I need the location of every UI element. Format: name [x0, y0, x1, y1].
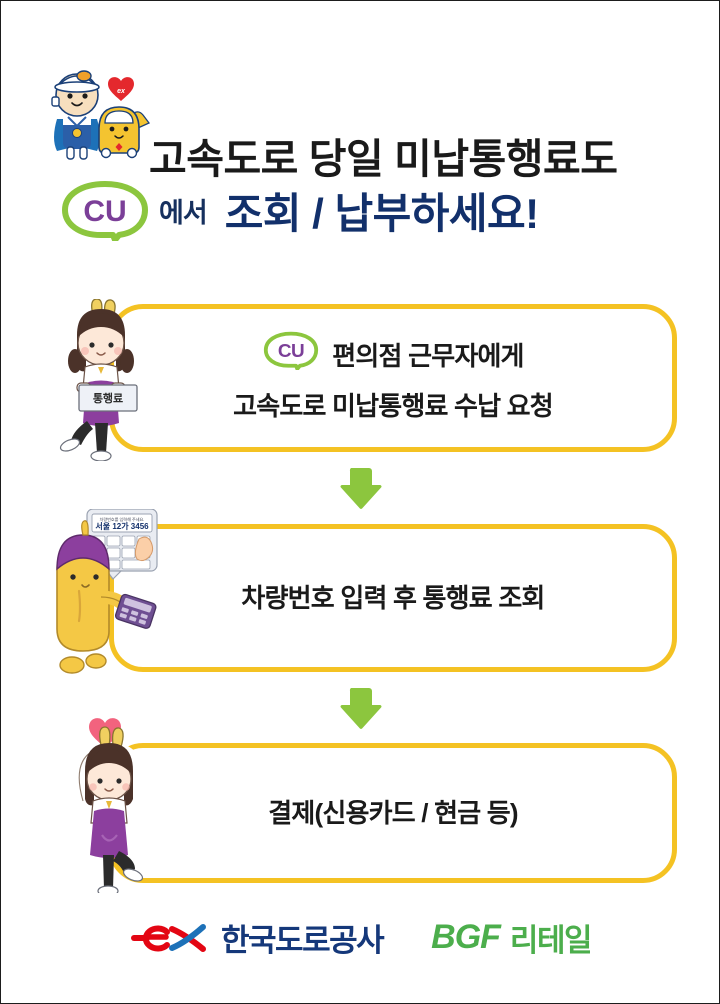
- bgf-retail-logo: BGF 리테일: [431, 915, 591, 960]
- svg-text:ex: ex: [117, 88, 126, 95]
- headline-line-2: CU 에서 조회 / 납부하세요!: [59, 175, 699, 245]
- cu-logo-text: CU: [83, 195, 126, 228]
- ex-logo-name: 한국도로공사: [221, 915, 383, 960]
- heart-badge-icon: ex: [108, 77, 134, 101]
- ex-korea-expressway-logo: 한국도로공사: [131, 915, 383, 960]
- footer-logos: 한국도로공사 BGF 리테일: [1, 906, 720, 968]
- step-2-line-1: 차량번호 입력 후 통행료 조회: [241, 578, 544, 618]
- step-3-character-illustration: [49, 701, 167, 898]
- step-1-box: CU 편의점 근무자에게 고속도로 미납통행료 수납 요청: [109, 304, 677, 452]
- toll-sign-text: 통행료: [93, 391, 123, 405]
- connector-label: 에서: [159, 191, 207, 230]
- step-2-box: 차량번호 입력 후 통행료 조회: [109, 524, 677, 672]
- bgf-mark-text: BGF: [431, 918, 500, 957]
- step-2-character-illustration: 차량번호를 입력해 주세요. 서울 12가 3456: [39, 509, 169, 686]
- step-3-box: 결제(신용카드 / 현금 등): [109, 743, 677, 883]
- step-1-text-1: 편의점 근무자에게: [332, 336, 523, 376]
- screen-plate-text: 서울 12가 3456: [95, 521, 149, 531]
- cu-logo-inline-step1: CU: [262, 330, 320, 381]
- arrow-down-icon-1: [334, 466, 386, 512]
- cu-logo-inline-text: CU: [278, 341, 304, 362]
- ex-mark-icon: [131, 919, 211, 955]
- arrow-down-icon-2: [334, 686, 386, 732]
- ex-mascot-pair-illustration: ex: [35, 57, 165, 167]
- car-mascot: [99, 107, 149, 158]
- cu-logo: CU: [59, 179, 151, 241]
- bgf-logo-name: 리테일: [510, 915, 591, 960]
- poster-root: ex: [0, 0, 720, 1004]
- road-guide-mascot: [52, 71, 100, 159]
- poster-header: ex: [1, 45, 720, 245]
- step-3-line-1: 결제(신용카드 / 현금 등): [268, 793, 518, 833]
- pos-terminal-icon: [115, 593, 157, 629]
- step-1-line-1: CU 편의점 근무자에게: [262, 330, 523, 381]
- step-1-character-illustration: 통행료: [37, 299, 157, 466]
- headline-emphasis: 조회 / 납부하세요!: [225, 180, 539, 241]
- step-1-line-2: 고속도로 미납통행료 수납 요청: [233, 386, 553, 426]
